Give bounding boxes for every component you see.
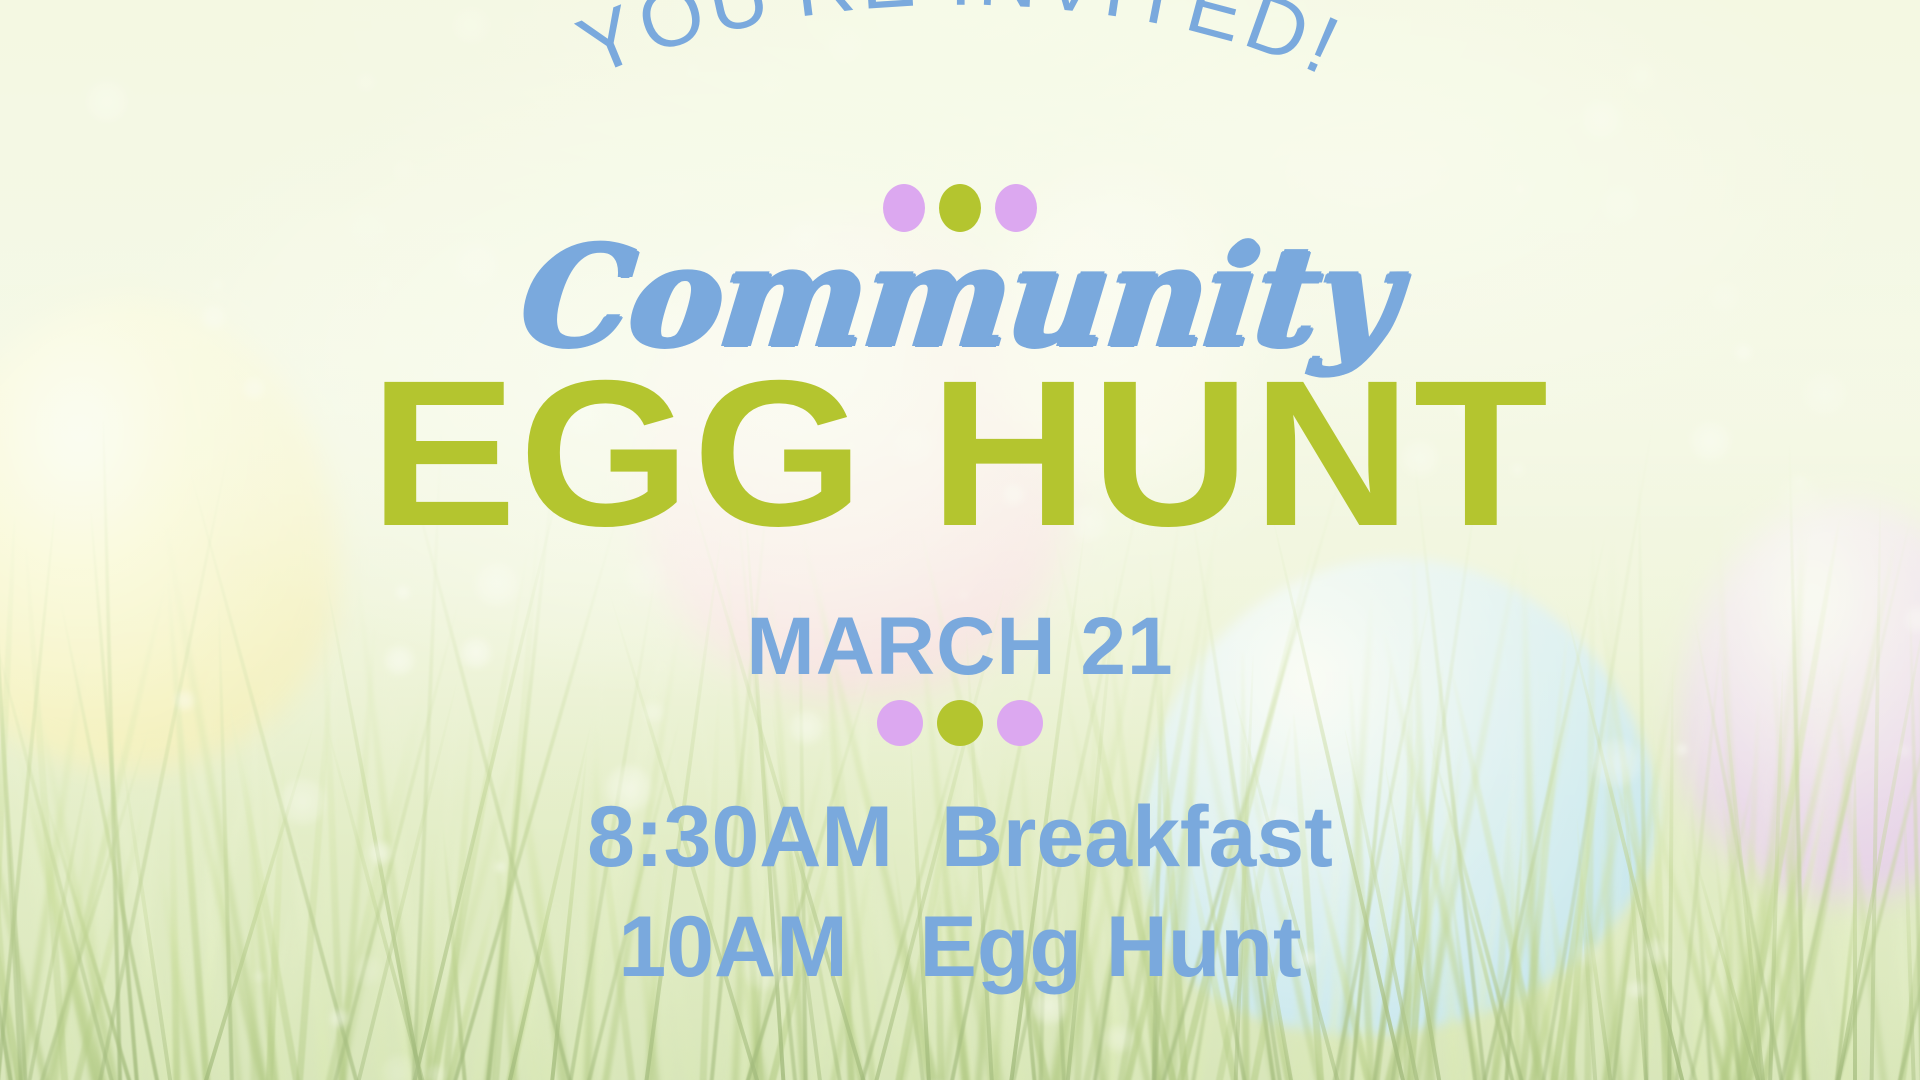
dot-divider-middle [877, 700, 1043, 746]
egg-hunt-invitation-poster: YOU'RE INVITED! Community EGG HUNT MARCH… [0, 0, 1920, 1080]
dot-lavender-right [997, 700, 1043, 746]
dot-green-center [937, 700, 983, 746]
dot-lavender-left [877, 700, 923, 746]
kicker-text: YOU'RE INVITED! [566, 0, 1356, 93]
main-title: EGG HUNT [0, 350, 1920, 558]
schedule-row-breakfast: 8:30AM Breakfast [0, 782, 1920, 892]
event-schedule: 8:30AM Breakfast 10AM Egg Hunt [0, 782, 1920, 1002]
poster-content: YOU'RE INVITED! Community EGG HUNT MARCH… [0, 0, 1920, 1080]
schedule-row-egg-hunt: 10AM Egg Hunt [0, 892, 1920, 1002]
event-date: MARCH 21 [0, 600, 1920, 694]
